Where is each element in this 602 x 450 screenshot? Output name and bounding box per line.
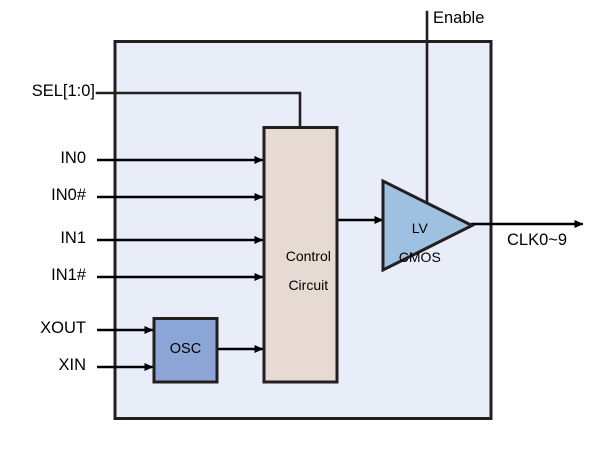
lvcmos-label-line2: CMOS xyxy=(399,249,441,265)
diagram-canvas xyxy=(0,0,602,450)
port-label-in1: IN1 xyxy=(0,230,86,247)
port-label-in0n: IN0# xyxy=(0,187,86,204)
lvcmos-buffer-label: LV CMOS xyxy=(381,206,443,279)
port-label-in0: IN0 xyxy=(0,150,86,167)
control-circuit-label: Control Circuit xyxy=(264,234,337,307)
port-label-xin: XIN xyxy=(0,357,86,374)
control-circuit-label-line2: Circuit xyxy=(288,277,328,293)
lvcmos-label-line1: LV xyxy=(412,220,428,236)
port-label-enable: Enable xyxy=(433,10,484,27)
osc-label: OSC xyxy=(154,342,217,357)
port-label-xout: XOUT xyxy=(0,320,86,337)
block-diagram: SEL[1:0] IN0 IN0# IN1 IN1# XOUT XIN Enab… xyxy=(0,0,602,450)
control-circuit-label-line1: Control xyxy=(286,248,331,264)
port-label-clk-output: CLK0~9 xyxy=(507,232,567,249)
port-label-in1n: IN1# xyxy=(0,267,86,284)
port-label-sel: SEL[1:0] xyxy=(0,83,95,100)
